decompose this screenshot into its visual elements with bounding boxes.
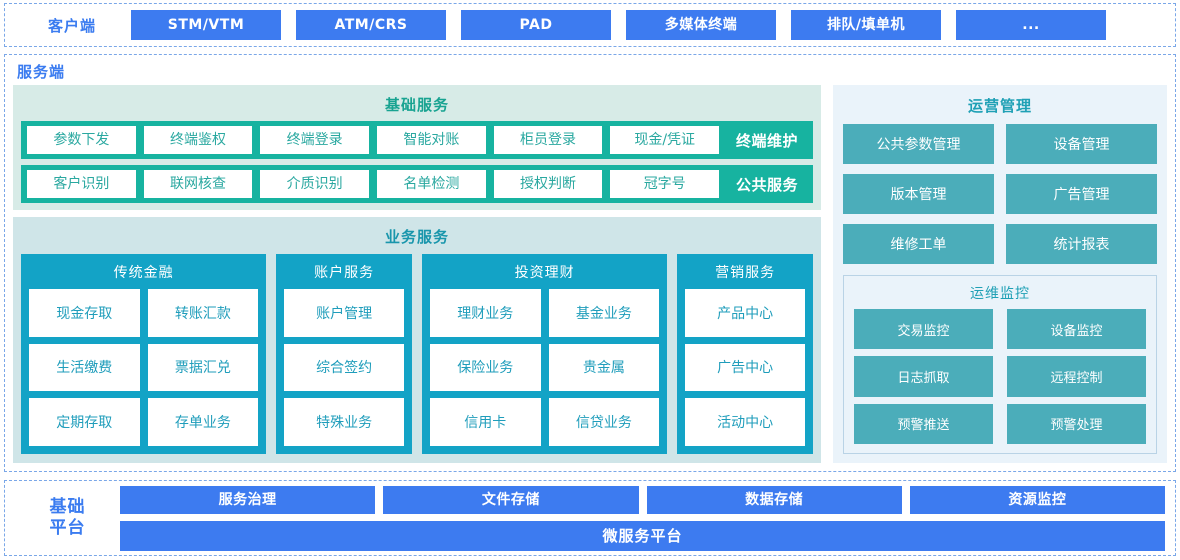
basic-item-param-dispatch[interactable]: 参数下发 — [27, 126, 136, 154]
business-group-items-traditional-finance: 现金存取 转账汇款 生活缴费 票据汇兑 定期存取 存单业务 — [29, 289, 258, 446]
server-section-header: 服务端 — [13, 60, 1167, 85]
operations-monitoring-title: 运维监控 — [854, 280, 1146, 309]
server-section-label: 服务端 — [17, 63, 65, 81]
business-group-title-traditional-finance: 传统金融 — [29, 258, 258, 289]
business-group-title-marketing-service: 营销服务 — [685, 258, 805, 289]
monitoring-item-remote-control[interactable]: 远程控制 — [1007, 356, 1146, 396]
basic-item-cash-voucher[interactable]: 现金/凭证 — [610, 126, 719, 154]
platform-section-label: 基础 平台 — [15, 497, 120, 539]
business-item-advertising-center[interactable]: 广告中心 — [685, 344, 805, 392]
client-section: 客户端 STM/VTM ATM/CRS PAD 多媒体终端 排队/填单机 ... — [4, 3, 1176, 47]
business-group-items-investment-finance: 理财业务 基金业务 保险业务 贵金属 信用卡 信贷业务 — [430, 289, 659, 446]
client-item-multimedia-terminal[interactable]: 多媒体终端 — [626, 10, 776, 40]
basic-row-tag-public-service: 公共服务 — [727, 174, 807, 195]
client-button-group: STM/VTM ATM/CRS PAD 多媒体终端 排队/填单机 ... — [131, 10, 1106, 40]
business-item-product-center[interactable]: 产品中心 — [685, 289, 805, 337]
business-item-credit-card[interactable]: 信用卡 — [430, 398, 541, 446]
business-item-comprehensive-signing[interactable]: 综合签约 — [284, 344, 404, 392]
business-services-title: 业务服务 — [21, 221, 813, 254]
business-group-investment-finance: 投资理财 理财业务 基金业务 保险业务 贵金属 信用卡 信贷业务 — [422, 254, 667, 454]
basic-services-panel: 基础服务 参数下发 终端鉴权 终端登录 智能对账 柜员登录 现金/凭证 终端维护… — [13, 85, 821, 210]
platform-items-row: 服务治理 文件存储 数据存储 资源监控 — [120, 486, 1165, 514]
basic-item-authorization-judgement[interactable]: 授权判断 — [494, 170, 603, 198]
monitoring-item-device-monitoring[interactable]: 设备监控 — [1007, 309, 1146, 349]
business-item-special-business[interactable]: 特殊业务 — [284, 398, 404, 446]
basic-services-row-terminal-maintenance: 参数下发 终端鉴权 终端登录 智能对账 柜员登录 现金/凭证 终端维护 — [21, 121, 813, 159]
business-group-traditional-finance: 传统金融 现金存取 转账汇款 生活缴费 票据汇兑 定期存取 存单业务 — [21, 254, 266, 454]
basic-item-terminal-auth[interactable]: 终端鉴权 — [144, 126, 253, 154]
server-body: 基础服务 参数下发 终端鉴权 终端登录 智能对账 柜员登录 现金/凭证 终端维护… — [13, 85, 1167, 463]
business-item-precious-metals[interactable]: 贵金属 — [549, 344, 660, 392]
platform-item-resource-monitoring[interactable]: 资源监控 — [910, 486, 1165, 514]
business-services-groups: 传统金融 现金存取 转账汇款 生活缴费 票据汇兑 定期存取 存单业务 — [21, 254, 813, 454]
business-group-items-marketing-service: 产品中心 广告中心 活动中心 — [685, 289, 805, 446]
basic-item-customer-identification[interactable]: 客户识别 — [27, 170, 136, 198]
basic-item-online-verification[interactable]: 联网核查 — [144, 170, 253, 198]
business-item-wealth-management[interactable]: 理财业务 — [430, 289, 541, 337]
operations-monitoring-grid: 交易监控 设备监控 日志抓取 远程控制 预警推送 预警处理 — [854, 309, 1146, 444]
operations-monitoring-box: 运维监控 交易监控 设备监控 日志抓取 远程控制 预警推送 预警处理 — [843, 275, 1157, 454]
business-group-account-service: 账户服务 账户管理 综合签约 特殊业务 — [276, 254, 412, 454]
monitoring-item-log-capture[interactable]: 日志抓取 — [854, 356, 993, 396]
business-group-marketing-service: 营销服务 产品中心 广告中心 活动中心 — [677, 254, 813, 454]
client-item-more[interactable]: ... — [956, 10, 1106, 40]
basic-item-list-check[interactable]: 名单检测 — [377, 170, 486, 198]
business-item-credit-business[interactable]: 信贷业务 — [549, 398, 660, 446]
monitoring-item-transaction-monitoring[interactable]: 交易监控 — [854, 309, 993, 349]
platform-label-line1: 基础 — [15, 497, 120, 518]
operations-item-device-management[interactable]: 设备管理 — [1006, 124, 1157, 164]
business-group-title-account-service: 账户服务 — [284, 258, 404, 289]
basic-row-tag-terminal-maintenance: 终端维护 — [727, 130, 807, 151]
business-item-activity-center[interactable]: 活动中心 — [685, 398, 805, 446]
basic-item-media-recognition[interactable]: 介质识别 — [260, 170, 369, 198]
operations-item-statistical-report[interactable]: 统计报表 — [1006, 224, 1157, 264]
operations-management-title: 运营管理 — [843, 90, 1157, 124]
platform-label-line2: 平台 — [15, 518, 120, 539]
business-item-time-deposit[interactable]: 定期存取 — [29, 398, 140, 446]
platform-item-service-governance[interactable]: 服务治理 — [120, 486, 375, 514]
basic-item-teller-login[interactable]: 柜员登录 — [494, 126, 603, 154]
client-item-pad[interactable]: PAD — [461, 10, 611, 40]
basic-item-smart-reconciliation[interactable]: 智能对账 — [377, 126, 486, 154]
operations-item-repair-work-order[interactable]: 维修工单 — [843, 224, 994, 264]
business-group-items-account-service: 账户管理 综合签约 特殊业务 — [284, 289, 404, 446]
operations-item-advertising-management[interactable]: 广告管理 — [1006, 174, 1157, 214]
platform-item-microservice-platform[interactable]: 微服务平台 — [120, 521, 1165, 551]
basic-item-terminal-login[interactable]: 终端登录 — [260, 126, 369, 154]
business-item-insurance-business[interactable]: 保险业务 — [430, 344, 541, 392]
basic-services-title: 基础服务 — [21, 90, 813, 121]
client-item-atm-crs[interactable]: ATM/CRS — [296, 10, 446, 40]
operations-item-version-management[interactable]: 版本管理 — [843, 174, 994, 214]
server-section: 服务端 基础服务 参数下发 终端鉴权 终端登录 智能对账 柜员登录 现金/凭证 … — [4, 54, 1176, 472]
business-item-account-management[interactable]: 账户管理 — [284, 289, 404, 337]
basic-item-crown-number[interactable]: 冠字号 — [610, 170, 719, 198]
operations-items-grid: 公共参数管理 设备管理 版本管理 广告管理 维修工单 统计报表 — [843, 124, 1157, 264]
monitoring-item-alert-handling[interactable]: 预警处理 — [1007, 404, 1146, 444]
platform-item-file-storage[interactable]: 文件存储 — [383, 486, 638, 514]
business-item-transfer-remittance[interactable]: 转账汇款 — [148, 289, 259, 337]
business-services-panel: 业务服务 传统金融 现金存取 转账汇款 生活缴费 票据汇兑 定期存取 存单业务 — [13, 217, 821, 463]
monitoring-item-alert-push[interactable]: 预警推送 — [854, 404, 993, 444]
server-left-column: 基础服务 参数下发 终端鉴权 终端登录 智能对账 柜员登录 现金/凭证 终端维护… — [13, 85, 821, 463]
operations-management-panel: 运营管理 公共参数管理 设备管理 版本管理 广告管理 维修工单 统计报表 运维监… — [833, 85, 1167, 463]
client-section-label: 客户端 — [13, 15, 131, 36]
business-item-living-payment[interactable]: 生活缴费 — [29, 344, 140, 392]
business-item-certificate-deposit[interactable]: 存单业务 — [148, 398, 259, 446]
platform-item-data-storage[interactable]: 数据存储 — [647, 486, 902, 514]
business-item-bill-exchange[interactable]: 票据汇兑 — [148, 344, 259, 392]
basic-services-row-public-service: 客户识别 联网核查 介质识别 名单检测 授权判断 冠字号 公共服务 — [21, 165, 813, 203]
platform-content: 服务治理 文件存储 数据存储 资源监控 微服务平台 — [120, 486, 1165, 551]
business-item-fund-business[interactable]: 基金业务 — [549, 289, 660, 337]
operations-item-public-parameter-management[interactable]: 公共参数管理 — [843, 124, 994, 164]
business-group-title-investment-finance: 投资理财 — [430, 258, 659, 289]
client-item-stm-vtm[interactable]: STM/VTM — [131, 10, 281, 40]
platform-section: 基础 平台 服务治理 文件存储 数据存储 资源监控 微服务平台 — [4, 480, 1176, 556]
client-item-queue-form-machine[interactable]: 排队/填单机 — [791, 10, 941, 40]
business-item-cash-deposit-withdraw[interactable]: 现金存取 — [29, 289, 140, 337]
architecture-diagram: 客户端 STM/VTM ATM/CRS PAD 多媒体终端 排队/填单机 ...… — [0, 0, 1180, 560]
